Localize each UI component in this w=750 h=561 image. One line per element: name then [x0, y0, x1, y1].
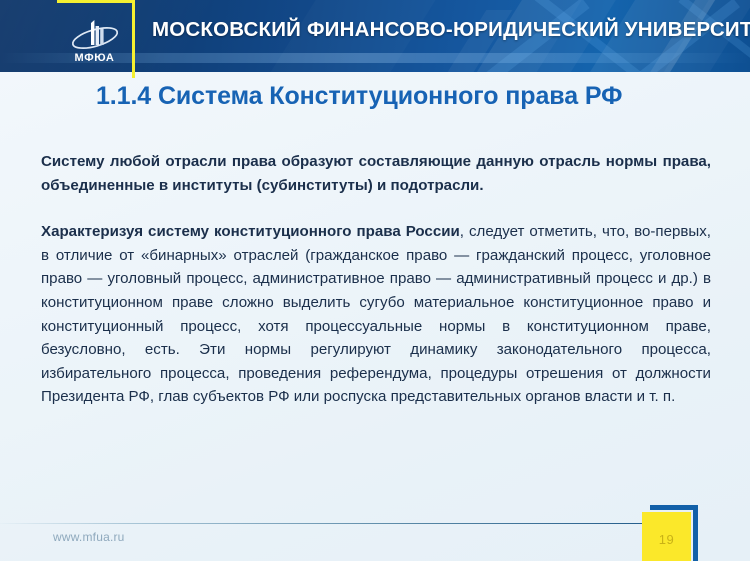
body-paragraph-1: Систему любой отрасли права образуют сос… [41, 150, 711, 197]
mfua-emblem-icon [69, 19, 121, 53]
paragraph-body-text: , следует отметить, что, во-первых, в от… [41, 223, 711, 405]
page-number-badge: 19 [642, 505, 698, 561]
paragraph-lead-phrase: Характеризуя систему конституционного пр… [41, 223, 460, 240]
university-logo: МФЮА [57, 0, 135, 78]
footer-website-url[interactable]: www.mfua.ru [53, 530, 125, 544]
body-paragraph-2: Характеризуя систему конституционного пр… [41, 220, 711, 409]
logo-abbreviation: МФЮА [75, 52, 115, 64]
university-name: МОСКОВСКИЙ ФИНАНСОВО-ЮРИДИЧЕСКИЙ УНИВЕРС… [152, 18, 750, 42]
page-number: 19 [659, 532, 674, 547]
slide-body: Систему любой отрасли права образуют сос… [41, 150, 711, 409]
footer-divider [0, 523, 680, 524]
presentation-slide: МОСКОВСКИЙ ФИНАНСОВО-ЮРИДИЧЕСКИЙ УНИВЕРС… [0, 0, 750, 561]
page-title: 1.1.4 Система Конституционного права РФ [96, 82, 622, 111]
page-badge-fill: 19 [642, 512, 691, 561]
